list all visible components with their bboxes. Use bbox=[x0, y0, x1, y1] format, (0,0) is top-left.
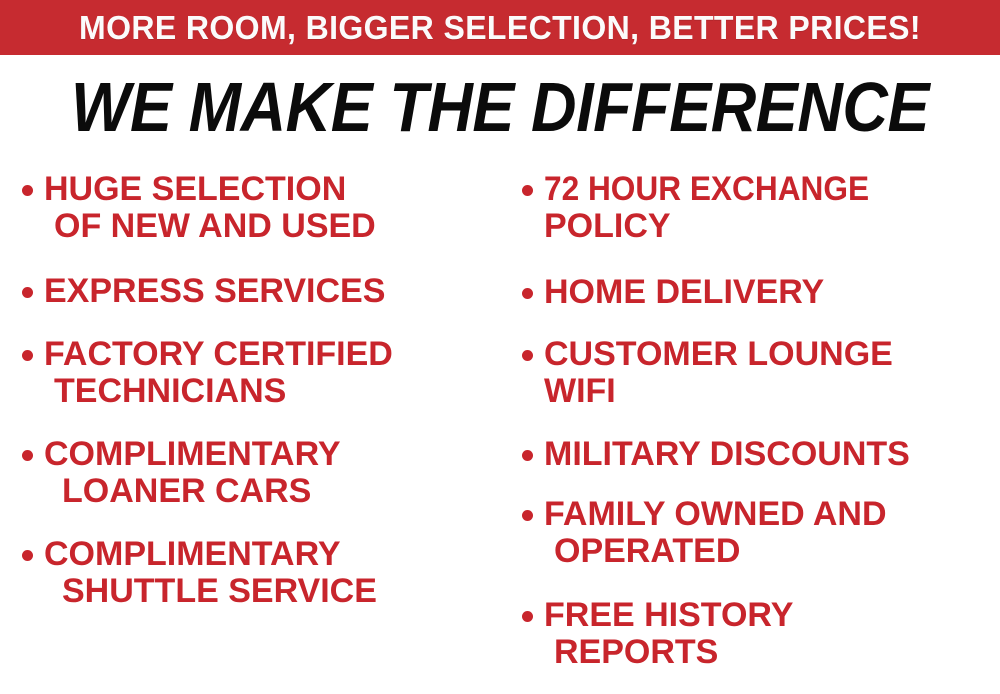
list-item-line-1: 72 HOUR EXCHANGE bbox=[544, 171, 894, 208]
list-item-label: COMPLIMENTARY SHUTTLE SERVICE bbox=[44, 536, 377, 610]
list-item: CUSTOMER LOUNGE WIFI bbox=[522, 336, 893, 410]
list-item: FACTORY CERTIFIED TECHNICIANS bbox=[22, 336, 393, 410]
list-item-line-1: CUSTOMER LOUNGE bbox=[544, 336, 893, 373]
benefits-column-right: 72 HOUR EXCHANGE POLICY HOME DELIVERY CU… bbox=[500, 0, 1000, 694]
list-item-label: COMPLIMENTARY LOANER CARS bbox=[44, 436, 341, 510]
list-item: FREE HISTORY REPORTS bbox=[522, 597, 793, 671]
list-item-label: 72 HOUR EXCHANGE POLICY bbox=[544, 171, 894, 245]
list-item-line-2: OF NEW AND USED bbox=[44, 208, 376, 245]
bullet-dot-icon bbox=[522, 350, 533, 361]
list-item: COMPLIMENTARY SHUTTLE SERVICE bbox=[22, 536, 377, 610]
list-item-line-1: HUGE SELECTION bbox=[44, 171, 376, 208]
list-item: HUGE SELECTION OF NEW AND USED bbox=[22, 171, 376, 245]
list-item-label: FREE HISTORY REPORTS bbox=[544, 597, 793, 671]
list-item-label: EXPRESS SERVICES bbox=[44, 273, 385, 310]
list-item: FAMILY OWNED AND OPERATED bbox=[522, 496, 887, 570]
list-item-label: FACTORY CERTIFIED TECHNICIANS bbox=[44, 336, 393, 410]
list-item-line-2: WIFI bbox=[544, 373, 893, 410]
bullet-dot-icon bbox=[522, 510, 533, 521]
list-item-line-1: COMPLIMENTARY bbox=[44, 436, 341, 473]
list-item-label: FAMILY OWNED AND OPERATED bbox=[544, 496, 887, 570]
list-item-line-2: SHUTTLE SERVICE bbox=[44, 573, 377, 610]
list-item: MILITARY DISCOUNTS bbox=[522, 436, 910, 473]
bullet-dot-icon bbox=[522, 450, 533, 461]
list-item-label: HOME DELIVERY bbox=[544, 274, 824, 311]
list-item-line-1: HOME DELIVERY bbox=[544, 274, 824, 311]
list-item-line-2: LOANER CARS bbox=[44, 473, 341, 510]
bullet-dot-icon bbox=[522, 611, 533, 622]
list-item: COMPLIMENTARY LOANER CARS bbox=[22, 436, 341, 510]
list-item-line-1: EXPRESS SERVICES bbox=[44, 273, 385, 310]
list-item-label: CUSTOMER LOUNGE WIFI bbox=[544, 336, 893, 410]
list-item: EXPRESS SERVICES bbox=[22, 273, 385, 310]
list-item-label: HUGE SELECTION OF NEW AND USED bbox=[44, 171, 376, 245]
bullet-dot-icon bbox=[522, 185, 533, 196]
list-item-label: MILITARY DISCOUNTS bbox=[544, 436, 910, 473]
list-item-line-2: POLICY bbox=[544, 208, 894, 245]
list-item-line-1: MILITARY DISCOUNTS bbox=[544, 436, 910, 473]
list-item-line-1: FACTORY CERTIFIED bbox=[44, 336, 393, 373]
bullet-dot-icon bbox=[22, 287, 33, 298]
bullet-dot-icon bbox=[522, 288, 533, 299]
bullet-dot-icon bbox=[22, 550, 33, 561]
benefits-column-left: HUGE SELECTION OF NEW AND USED EXPRESS S… bbox=[0, 0, 500, 694]
list-item: 72 HOUR EXCHANGE POLICY bbox=[522, 171, 894, 245]
list-item-line-2: TECHNICIANS bbox=[44, 373, 393, 410]
list-item-line-1: FREE HISTORY bbox=[544, 597, 793, 634]
advertisement-banner-page: MORE ROOM, BIGGER SELECTION, BETTER PRIC… bbox=[0, 0, 1000, 694]
list-item-line-1: COMPLIMENTARY bbox=[44, 536, 377, 573]
list-item-line-2: OPERATED bbox=[544, 533, 887, 570]
bullet-dot-icon bbox=[22, 350, 33, 361]
bullet-dot-icon bbox=[22, 450, 33, 461]
list-item: HOME DELIVERY bbox=[522, 274, 824, 311]
bullet-dot-icon bbox=[22, 185, 33, 196]
list-item-line-1-text: 72 HOUR EXCHANGE bbox=[544, 171, 869, 208]
list-item-line-2: REPORTS bbox=[544, 634, 793, 671]
list-item-line-1: FAMILY OWNED AND bbox=[544, 496, 887, 533]
